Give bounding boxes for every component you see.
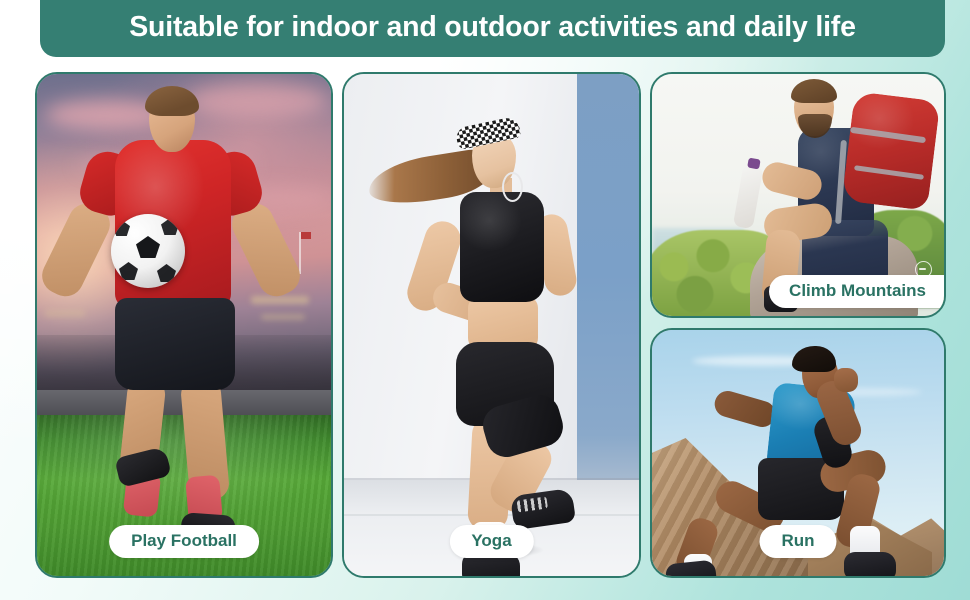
ball-panel (136, 236, 160, 258)
runner-trailing-shoe (665, 559, 717, 576)
watermark-icon (915, 261, 932, 278)
activity-panel-climb[interactable]: Climb Mountains (650, 72, 946, 318)
player-hair (145, 86, 199, 116)
header-banner: Suitable for indoor and outdoor activiti… (40, 0, 945, 57)
promo-banner-image: Suitable for indoor and outdoor activiti… (0, 0, 970, 600)
soccer-ball-icon (111, 214, 185, 288)
red-backpack (842, 91, 941, 211)
panel-label-yoga: Yoga (449, 525, 533, 558)
runner-trailing-arm (712, 388, 779, 430)
panel-label-football: Play Football (109, 525, 259, 558)
yoga-photo (344, 74, 639, 576)
hoop-earring-icon (502, 172, 523, 202)
hiker-hair (791, 79, 837, 103)
runner-hair (792, 346, 836, 372)
runner-hand (834, 368, 858, 392)
panel-label-climb: Climb Mountains (769, 275, 944, 308)
ball-panel (157, 264, 176, 282)
activity-panel-run[interactable]: Run (650, 328, 946, 578)
activity-panel-yoga[interactable]: Yoga (342, 72, 641, 578)
model-sports-bra (460, 192, 544, 302)
banner-title: Suitable for indoor and outdoor activiti… (129, 13, 856, 42)
football-photo (37, 74, 331, 576)
ball-panel (119, 262, 138, 280)
player-black-shorts (115, 298, 235, 390)
activity-panel-football[interactable]: Play Football (35, 72, 333, 578)
water-bottle-icon (733, 165, 763, 230)
runner-lead-shoe (844, 552, 896, 576)
panel-label-run: Run (759, 525, 836, 558)
yoga-model-figure (344, 74, 639, 576)
football-player-figure (37, 74, 331, 576)
